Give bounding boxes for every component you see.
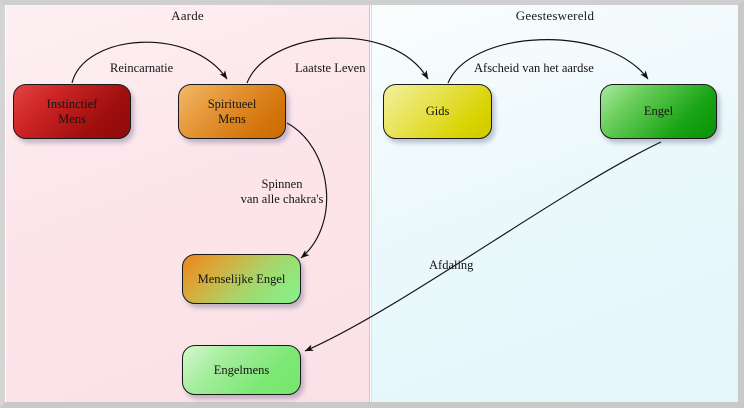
node-spiritueel-mens[interactable]: Spiritueel Mens: [178, 84, 286, 139]
edge-label-line2: van alle chakra's: [241, 192, 324, 206]
edge-label-reincarnatie: Reincarnatie: [110, 61, 173, 76]
node-menselijke-engel[interactable]: Menselijke Engel: [182, 254, 301, 304]
node-instinctief-mens-label: Instinctief Mens: [47, 97, 98, 126]
node-spiritueel-mens-label: Spiritueel Mens: [208, 97, 257, 126]
edge-label-spinnen-van-alle-chakras: Spinnen van alle chakra's: [222, 177, 342, 207]
node-engel-label: Engel: [644, 104, 673, 118]
node-instinctief-mens[interactable]: Instinctief Mens: [13, 84, 131, 139]
node-label-line2: Mens: [218, 112, 246, 126]
node-engelmens-label: Engelmens: [214, 363, 270, 377]
node-label-line1: Instinctief: [47, 97, 98, 111]
diagram-canvas: Aarde Geesteswereld Instinctief Mens Spi…: [0, 0, 744, 408]
edge-label-afdaling: Afdaling: [429, 258, 473, 273]
edge-label-afscheid-van-het-aardse: Afscheid van het aardse: [474, 61, 594, 76]
node-menselijke-engel-label: Menselijke Engel: [198, 272, 286, 286]
node-gids-label: Gids: [426, 104, 450, 118]
edge-label-line1: Spinnen: [262, 177, 303, 191]
node-label-line1: Spiritueel: [208, 97, 257, 111]
edge-label-laatste-leven: Laatste Leven: [295, 61, 365, 76]
node-gids[interactable]: Gids: [383, 84, 492, 139]
node-engelmens[interactable]: Engelmens: [182, 345, 301, 395]
node-engel[interactable]: Engel: [600, 84, 717, 139]
edge-afdaling: [305, 142, 661, 351]
node-label-line2: Mens: [58, 112, 86, 126]
